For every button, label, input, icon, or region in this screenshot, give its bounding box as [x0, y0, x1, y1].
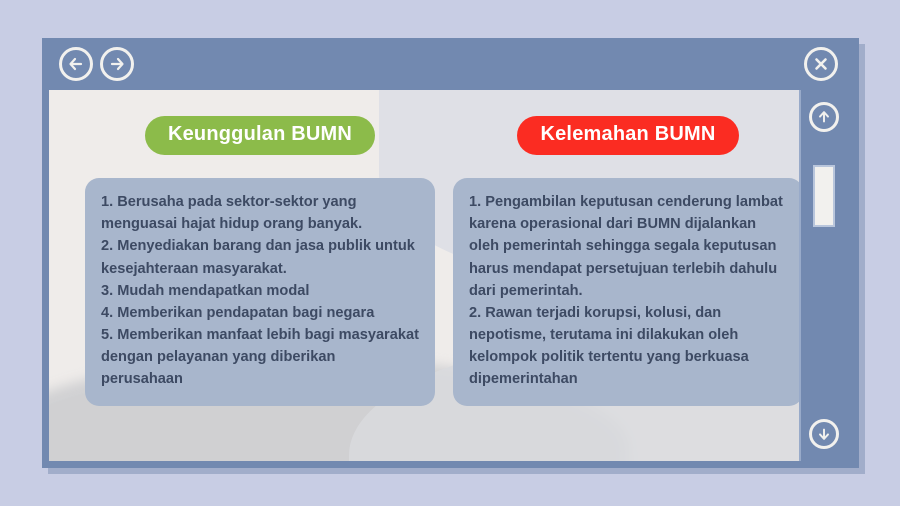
scroll-down-button[interactable] [809, 419, 839, 449]
arrow-down-circle-icon [816, 426, 832, 442]
list-item: 1. Berusaha pada sektor-sektor yang meng… [101, 191, 419, 235]
app-window: Keunggulan BUMN 1. Berusaha pada sektor-… [42, 38, 859, 468]
title-bar [42, 38, 859, 90]
arrow-right-circle-icon [108, 55, 126, 73]
column-kelemahan: Kelemahan BUMN 1. Pengambilan keputusan … [453, 116, 803, 461]
arrow-left-circle-icon [67, 55, 85, 73]
list-item: 2. Rawan terjadi korupsi, kolusi, dan ne… [469, 302, 787, 391]
column-keunggulan: Keunggulan BUMN 1. Berusaha pada sektor-… [85, 116, 435, 461]
comparison-columns: Keunggulan BUMN 1. Berusaha pada sektor-… [49, 90, 825, 461]
list-item: 1. Pengambilan keputusan cenderung lamba… [469, 191, 787, 302]
close-circle-icon [812, 55, 830, 73]
back-button[interactable] [59, 47, 93, 81]
forward-button[interactable] [100, 47, 134, 81]
badge-kelemahan: Kelemahan BUMN [517, 116, 738, 155]
slide-content: Keunggulan BUMN 1. Berusaha pada sektor-… [49, 90, 825, 461]
badge-keunggulan: Keunggulan BUMN [145, 116, 375, 155]
list-item: 5. Memberikan manfaat lebih bagi masyara… [101, 324, 419, 391]
card-kelemahan: 1. Pengambilan keputusan cenderung lamba… [453, 178, 803, 406]
scrollbar-thumb[interactable] [813, 165, 835, 227]
scroll-up-button[interactable] [809, 102, 839, 132]
navigation-controls [59, 47, 134, 81]
list-item: 2. Menyediakan barang dan jasa publik un… [101, 235, 419, 279]
list-item: 3. Mudah mendapatkan modal [101, 280, 419, 302]
arrow-up-circle-icon [816, 109, 832, 125]
card-keunggulan: 1. Berusaha pada sektor-sektor yang meng… [85, 178, 435, 406]
vertical-scrollbar[interactable] [799, 90, 847, 461]
close-button[interactable] [804, 47, 838, 81]
list-item: 4. Memberikan pendapatan bagi negara [101, 302, 419, 324]
